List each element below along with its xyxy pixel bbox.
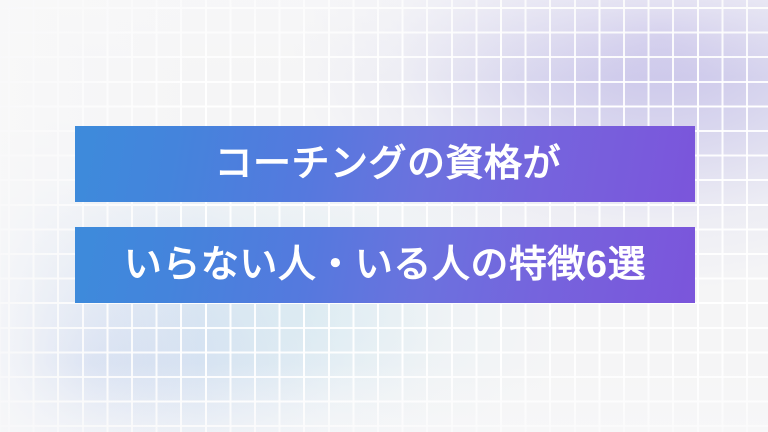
background-vignette [0,0,768,432]
title-banner-line-1: コーチングの資格が [75,126,695,202]
title-text-line-1: コーチングの資格が [214,145,561,183]
title-banner-line-2: いらない人・いる人の特徴6選 [75,227,695,303]
title-card-canvas: コーチングの資格が いらない人・いる人の特徴6選 [0,0,768,432]
title-text-line-2: いらない人・いる人の特徴6選 [124,246,646,284]
